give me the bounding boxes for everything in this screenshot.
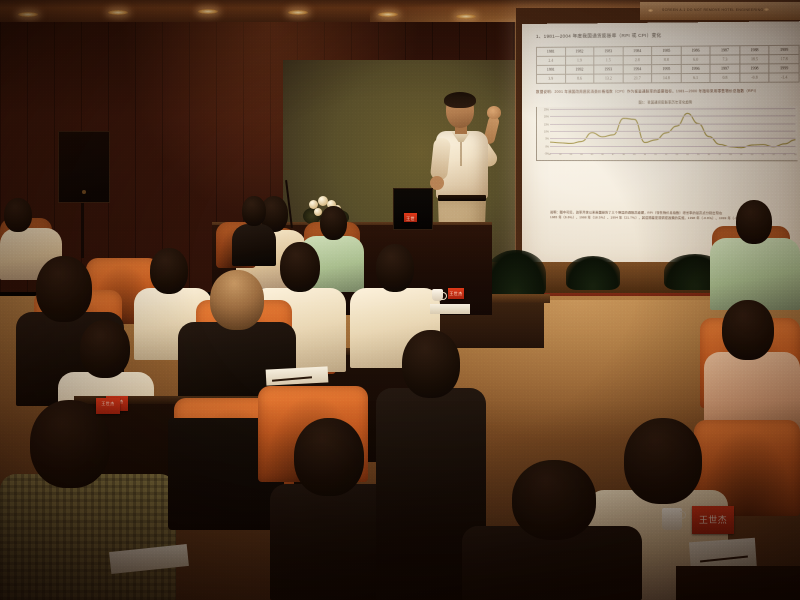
presenter-hair bbox=[444, 92, 476, 108]
name-card-text: 王世杰 bbox=[692, 513, 734, 526]
chart-gridline: 5% bbox=[550, 138, 795, 139]
head bbox=[376, 244, 414, 292]
table-cell: 1993 bbox=[594, 65, 623, 74]
chart-y-tick: 20% bbox=[544, 116, 549, 119]
valance-led-icon bbox=[648, 9, 653, 12]
table-row: 3.9 8.6 13.2 21.7 14.8 6.1 0.8 -0.8 -1.4 bbox=[536, 73, 799, 84]
chart-canvas: 25%20%15%10%5%0%-5%818283848586878889909… bbox=[550, 108, 795, 153]
chart-gridline: -5% bbox=[550, 153, 795, 154]
chart-x-tick: 02 bbox=[772, 154, 775, 156]
head bbox=[4, 198, 32, 232]
chart-x-tick: 01 bbox=[762, 154, 765, 156]
head bbox=[722, 300, 774, 360]
table-cell: 1996 bbox=[681, 64, 710, 73]
table-cell: 1.5 bbox=[594, 56, 623, 65]
slide-chart: 图1：我国通货膨胀率历年变化趋势 25%20%15%10%5%0%-5%8182… bbox=[536, 99, 798, 161]
chart-x-tick: 92 bbox=[665, 154, 667, 156]
audience-member bbox=[0, 400, 176, 600]
valance-text: SCREEN A-1 DO NOT REMOVE HOTEL ENGINEERI… bbox=[662, 8, 763, 12]
table-cell: 8.6 bbox=[565, 74, 594, 83]
table-cell: 1988 bbox=[740, 46, 770, 55]
projection-screen-valance: SCREEN A-1 DO NOT REMOVE HOTEL ENGINEERI… bbox=[640, 2, 800, 20]
downlight-icon bbox=[288, 10, 308, 15]
chart-y-tick: 5% bbox=[545, 138, 548, 141]
table-cell: 1994 bbox=[623, 65, 652, 74]
presenter-right-hand bbox=[487, 106, 501, 119]
head bbox=[36, 256, 92, 322]
table-cell: 0.8 bbox=[710, 73, 739, 82]
table-cell: 14.8 bbox=[652, 74, 681, 83]
presenter-belt bbox=[438, 195, 486, 201]
chart-x-tick: 96 bbox=[708, 154, 711, 156]
table-cell: 1998 bbox=[740, 64, 770, 73]
chart-x-tick: 04 bbox=[794, 154, 797, 156]
table-cell: 6.1 bbox=[681, 73, 710, 82]
head bbox=[210, 270, 264, 330]
conference-room-photo: SCREEN A-1 DO NOT REMOVE HOTEL ENGINEERI… bbox=[0, 0, 800, 600]
head bbox=[402, 330, 460, 398]
loudspeaker-led-icon bbox=[82, 190, 86, 194]
chart-x-tick: 85 bbox=[591, 154, 593, 156]
table-cell: 18.5 bbox=[740, 55, 770, 64]
notepad bbox=[430, 304, 470, 314]
audience-member bbox=[710, 200, 800, 310]
chart-x-tick: 88 bbox=[622, 154, 624, 156]
torso bbox=[0, 474, 176, 600]
head bbox=[736, 200, 772, 244]
chart-x-tick: 86 bbox=[601, 154, 603, 156]
table-cell: 1986 bbox=[681, 46, 710, 55]
table-cell: 1999 bbox=[769, 64, 799, 73]
chart-x-tick: 99 bbox=[740, 154, 743, 156]
audience-table bbox=[676, 566, 800, 600]
valance-led-icon bbox=[764, 8, 769, 11]
name-card: 王世杰 bbox=[404, 213, 417, 222]
chart-x-tick: 90 bbox=[644, 154, 646, 156]
table-cell: 1.9 bbox=[565, 56, 594, 65]
chart-x-tick: 00 bbox=[751, 154, 754, 156]
table-cell: 1987 bbox=[710, 46, 739, 55]
name-card: 王世杰 bbox=[692, 506, 734, 534]
chart-y-tick: 15% bbox=[544, 123, 549, 126]
table-cell: -0.8 bbox=[740, 73, 770, 82]
table-cell: -1.4 bbox=[769, 73, 799, 82]
chart-plot-area: 25%20%15%10%5%0%-5%818283848586878889909… bbox=[536, 106, 798, 161]
downlight-icon bbox=[378, 12, 398, 17]
chart-y-tick: 25% bbox=[544, 108, 549, 111]
table-cell: 6.0 bbox=[681, 55, 710, 64]
potted-palm bbox=[566, 256, 620, 290]
presenter-shirt-placket bbox=[460, 140, 462, 166]
slide-note: 数据说明：2001 年我国改用居民消费价格指数（CPI）作为衡量通胀率的重要指标… bbox=[536, 89, 798, 95]
table-cell: 1984 bbox=[623, 46, 652, 55]
table-cell: 1983 bbox=[594, 47, 623, 56]
table-cell: 17.8 bbox=[769, 54, 799, 63]
table-cell: 2.4 bbox=[536, 56, 565, 65]
inflation-data-table: 1981 1982 1983 1984 1985 1986 1987 1988 … bbox=[536, 45, 800, 84]
chart-x-tick: 81 bbox=[549, 154, 551, 156]
chart-x-tick: 82 bbox=[559, 154, 561, 156]
slide-title: 1、1981—2004 年度我国通货膨胀率（RPI 或 CPI）变化 bbox=[536, 31, 798, 39]
name-card-text: 王世杰 bbox=[448, 291, 464, 297]
chart-x-tick: 97 bbox=[718, 154, 721, 156]
table-cell: 3.9 bbox=[536, 74, 565, 83]
head bbox=[512, 460, 596, 540]
head bbox=[242, 196, 266, 226]
notepad bbox=[266, 366, 329, 385]
chart-x-tick: 98 bbox=[729, 154, 732, 156]
table-cell: 8.8 bbox=[652, 55, 681, 64]
tea-cup bbox=[432, 289, 443, 301]
downlight-icon bbox=[456, 14, 476, 19]
head bbox=[294, 418, 364, 496]
downlight-icon bbox=[198, 9, 218, 14]
head bbox=[80, 320, 130, 378]
table-cell: 7.3 bbox=[710, 55, 739, 64]
chart-y-tick: 10% bbox=[544, 130, 549, 133]
table-cell: 1981 bbox=[536, 47, 565, 56]
table-cell: 21.7 bbox=[623, 74, 652, 83]
table-cell: 1992 bbox=[565, 65, 594, 74]
downlight-icon bbox=[108, 10, 128, 15]
name-card: 王世杰 bbox=[448, 288, 464, 299]
chart-x-tick: 87 bbox=[612, 154, 614, 156]
table-cell: 2.8 bbox=[623, 56, 652, 65]
table-cell: 13.2 bbox=[594, 74, 623, 83]
chart-x-tick: 95 bbox=[697, 154, 700, 156]
downlight-icon bbox=[18, 12, 38, 17]
head bbox=[320, 206, 347, 240]
loudspeaker-stand bbox=[81, 203, 84, 258]
table-cell: 1997 bbox=[710, 64, 739, 73]
chart-x-tick: 03 bbox=[783, 154, 786, 156]
chart-x-tick: 84 bbox=[580, 154, 582, 156]
table-cell: 1985 bbox=[652, 46, 681, 55]
name-card-text: 王世杰 bbox=[404, 216, 417, 223]
tea-cup bbox=[662, 508, 682, 530]
presenter-monitor bbox=[393, 188, 433, 230]
table-cell: 1989 bbox=[769, 45, 799, 54]
chart-x-tick: 94 bbox=[686, 154, 688, 156]
chart-title: 图1：我国通货膨胀率历年变化趋势 bbox=[536, 99, 798, 105]
chart-y-tick: 0% bbox=[545, 145, 548, 148]
name-card-text: 王世杰 bbox=[96, 401, 120, 407]
chart-x-tick: 91 bbox=[654, 154, 656, 156]
table-cell: 1982 bbox=[565, 47, 594, 56]
chart-x-tick: 93 bbox=[676, 154, 678, 156]
chart-x-tick: 83 bbox=[570, 154, 572, 156]
audience-member bbox=[462, 460, 642, 600]
name-card: 王世杰 bbox=[96, 398, 120, 414]
table-cell: 1995 bbox=[652, 64, 681, 73]
table-cell: 1991 bbox=[536, 65, 565, 74]
chart-x-tick: 89 bbox=[633, 154, 635, 156]
chart-gridline: 0% bbox=[550, 146, 795, 147]
